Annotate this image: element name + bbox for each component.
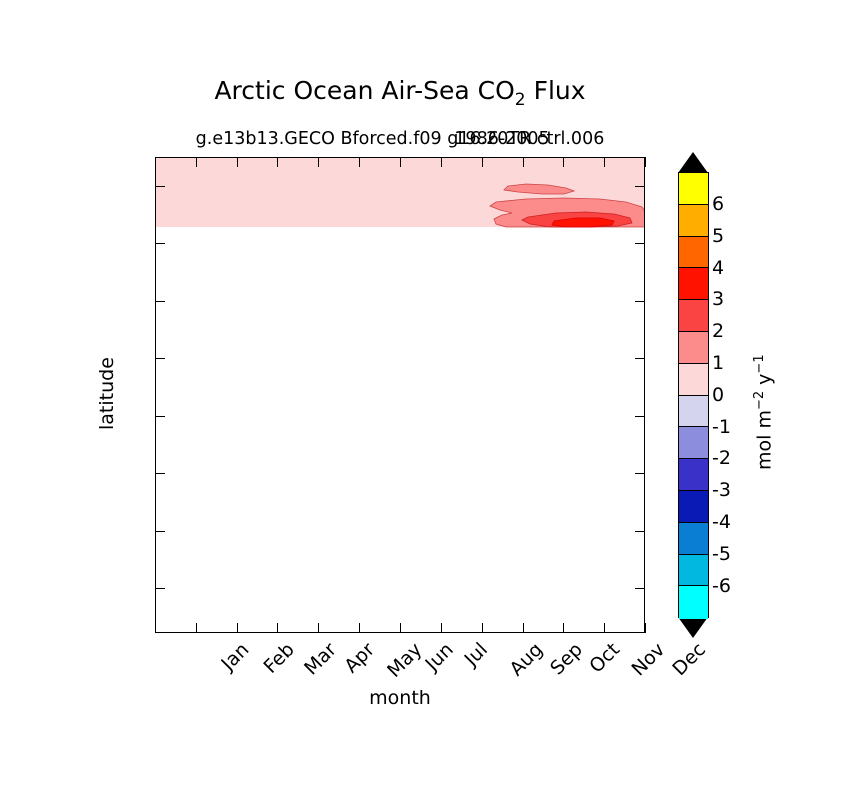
colorbar-tick-label-2: 2 [712, 322, 724, 341]
x-tick-label-apr: Apr [342, 640, 379, 677]
colorbar-tick-label-m2: -2 [712, 449, 731, 468]
x-tick-may [359, 623, 360, 633]
x-axis-label: month [155, 687, 645, 709]
x-tick-label-mar: Mar [302, 640, 341, 679]
unit-exponent-minus1: −1 [752, 354, 767, 373]
colorbar-tick-label-m1: -1 [712, 418, 731, 437]
colorbar-band-5-6 [679, 205, 708, 237]
x-tick-apr-top [318, 157, 319, 167]
x-tick-jan-top [196, 157, 197, 167]
colorbar-tick-label-m5: -5 [712, 545, 731, 564]
title-text-pre: Arctic Ocean Air-Sea CO [214, 76, 514, 105]
x-tick-label-jul: Jul [462, 640, 492, 670]
colorbar-tick-label-m6: -6 [712, 577, 731, 596]
x-tick-label-jan: Jan [219, 640, 253, 674]
x-tick-jun [400, 623, 401, 633]
colorbar-bands [678, 172, 709, 618]
x-tick-jul-top [441, 157, 442, 167]
x-tick-oct [563, 623, 564, 633]
x-tick-may-top [359, 157, 360, 167]
colorbar-tick-label-3: 3 [712, 290, 724, 309]
colorbar-band-1-2 [679, 332, 708, 364]
colorbar-band-2-3 [679, 300, 708, 332]
colorbar-band-m7-m6 [679, 586, 708, 619]
colorbar-tick-label-0: 0 [712, 386, 724, 405]
x-tick-label-jun: Jun [423, 640, 457, 674]
colorbar-extend-max-arrow-icon [678, 152, 708, 173]
colorbar-band-m5-m4 [679, 523, 708, 555]
subtitle-group: g.e13b13.GECO Bforced.f09 g16.20TR ctrl.… [0, 128, 800, 150]
colorbar-tick-label-m3: -3 [712, 481, 731, 500]
unit-text-y: y [753, 374, 775, 391]
x-tick-mar [277, 623, 278, 633]
x-tick-nov [604, 623, 605, 633]
colorbar-band-m1-0 [679, 396, 708, 428]
y-axis-label: latitude [96, 357, 118, 430]
x-tick-apr [318, 623, 319, 633]
colorbar-band-6-7 [679, 173, 708, 205]
x-tick-oct-top [563, 157, 564, 167]
x-tick-jun-top [400, 157, 401, 167]
title-text-post: Flux [526, 76, 586, 105]
colorbar-tick-label-m4: -4 [712, 513, 731, 532]
colorbar-band-4-5 [679, 237, 708, 269]
colorbar-unit-label: mol m−2 y−1 [752, 354, 775, 470]
colorbar-extend-min-arrow-icon [678, 617, 708, 638]
colorbar-tick-label-5: 5 [712, 227, 724, 246]
unit-text-mol-m: mol m [753, 410, 775, 470]
x-tick-mar-top [277, 157, 278, 167]
x-tick-label-dec: Dec [670, 640, 709, 679]
x-tick-aug-top [482, 157, 483, 167]
figure-canvas: Arctic Ocean Air-Sea CO2 Flux g.e13b13.G… [0, 0, 841, 788]
x-tick-aug [482, 623, 483, 633]
x-tick-label-oct: Oct [587, 640, 624, 677]
subtitle-period: 1986-2005 [392, 128, 612, 150]
x-tick-sep-top [523, 157, 524, 167]
x-tick-label-may: May [385, 640, 426, 681]
title-subscript: 2 [515, 90, 526, 110]
colorbar-band-m2-m1 [679, 427, 708, 459]
colorbar-band-0-1 [679, 364, 708, 396]
colorbar-tick-label-1: 1 [712, 354, 724, 373]
x-tick-sep [523, 623, 524, 633]
x-tick-nov-top [604, 157, 605, 167]
colorbar-band-m4-m3 [679, 491, 708, 523]
page-title: Arctic Ocean Air-Sea CO2 Flux [0, 76, 800, 115]
x-tick-label-sep: Sep [547, 640, 586, 679]
x-tick-dec [645, 623, 646, 633]
colorbar-tick-label-6: 6 [712, 195, 724, 214]
x-tick-feb-top [237, 157, 238, 167]
colorbar-tick-label-4: 4 [712, 259, 724, 278]
unit-exponent-minus2: −2 [752, 391, 767, 410]
colorbar-band-3-4 [679, 268, 708, 300]
x-tick-label-aug: Aug [507, 640, 547, 680]
x-tick-feb [237, 623, 238, 633]
x-tick-dec-top [645, 157, 646, 167]
x-tick-label-feb: Feb [261, 640, 298, 677]
colorbar-band-m6-m5 [679, 555, 708, 587]
x-tick-jul [441, 623, 442, 633]
x-tick-label-nov: Nov [629, 640, 669, 680]
x-tick-jan [196, 623, 197, 633]
colorbar-band-m3-m2 [679, 459, 708, 491]
